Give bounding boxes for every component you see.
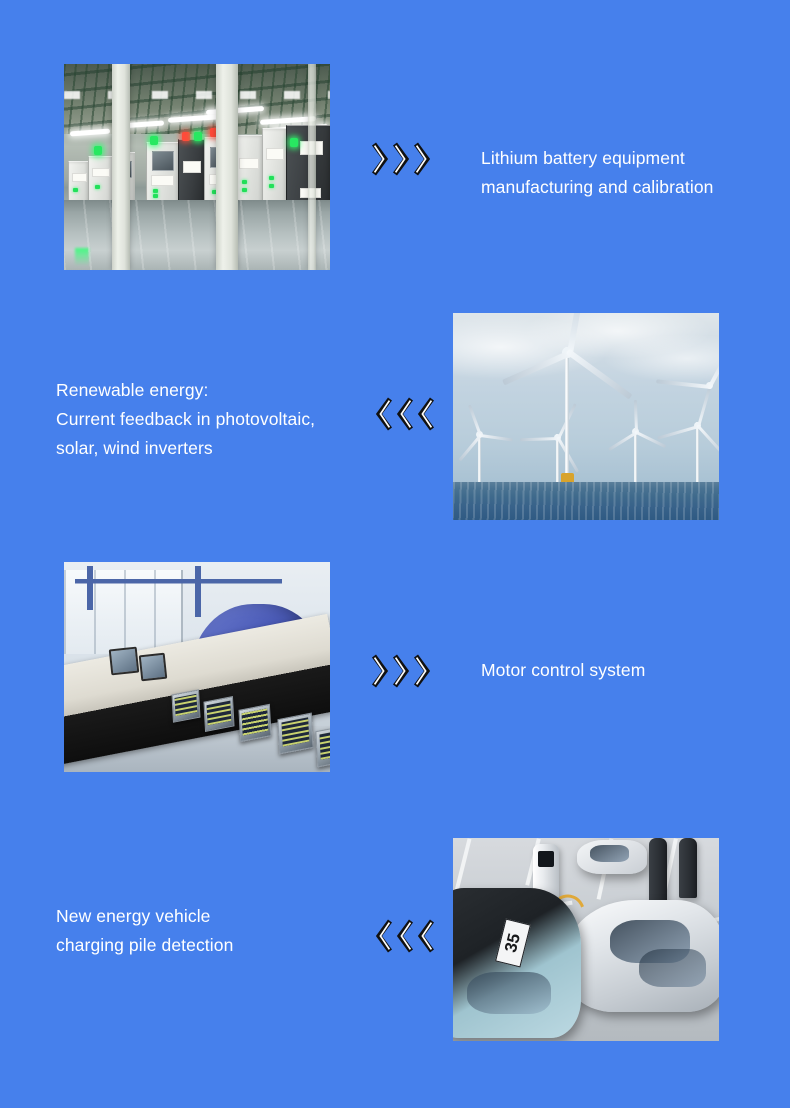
photo-motor-control <box>64 562 330 772</box>
chevron-right-icon <box>391 651 411 691</box>
wind-turbine <box>553 434 561 482</box>
chevron-left-icon <box>416 394 436 434</box>
chevron-left-icon <box>416 916 436 956</box>
cabinet-led <box>269 176 274 180</box>
photo-wind-farm-content <box>453 313 719 520</box>
chevron-right-icon <box>370 139 390 179</box>
chevron-left-icon <box>374 394 394 434</box>
chevron-right-icon <box>412 651 432 691</box>
cabinet-label <box>151 175 173 186</box>
cabinet-led <box>153 189 158 193</box>
charging-pile-screen <box>538 851 555 867</box>
caption-renewable-energy: Renewable energy: Current feedback in ph… <box>56 376 386 463</box>
chevron-right-icon <box>370 651 390 691</box>
photo-ev-charging-content: 35 <box>453 838 719 1041</box>
status-lamp <box>94 146 102 155</box>
charging-pile <box>649 838 667 902</box>
chevron-left-icon <box>395 916 415 956</box>
photo-wind-farm <box>453 313 719 520</box>
sedan-rear-glass <box>639 949 706 987</box>
arrow-renewable-energy <box>374 394 437 434</box>
monitor <box>139 653 168 682</box>
support-pillar <box>216 64 238 270</box>
instrument-console <box>172 689 201 723</box>
arrow-motor-control <box>370 651 433 691</box>
turbine-mast <box>696 422 699 484</box>
turbine-mast <box>634 428 637 484</box>
poster-canvas: Lithium battery equipment manufacturing … <box>0 0 790 1108</box>
status-lamp <box>290 138 298 147</box>
cabinet-label <box>266 148 283 161</box>
photo-lithium-battery <box>64 64 330 270</box>
turbine-mast <box>565 347 569 482</box>
monitor <box>109 647 140 676</box>
cabinet-led <box>95 185 100 189</box>
instrument-console <box>315 724 330 767</box>
cabinet-label <box>72 173 87 182</box>
arrow-lithium-battery <box>370 139 433 179</box>
van-number: 35 <box>501 931 525 954</box>
instrument-console <box>203 696 234 732</box>
status-lamp <box>150 136 158 145</box>
cabinet-led <box>153 194 158 198</box>
van-windshield <box>467 972 551 1014</box>
cabinet-led <box>269 184 274 188</box>
cabinet-led <box>242 188 247 192</box>
car-windshield <box>590 845 629 861</box>
instrument-console <box>238 704 271 742</box>
caption-motor-control: Motor control system <box>481 656 781 685</box>
wind-turbine <box>693 422 701 484</box>
chevron-right-icon <box>412 139 432 179</box>
wind-turbine <box>705 382 713 474</box>
chevron-right-icon <box>391 139 411 179</box>
cabinet-label <box>239 158 259 170</box>
clouds <box>453 313 719 427</box>
instrument-console <box>277 713 313 755</box>
caption-lithium-battery: Lithium battery equipment manufacturing … <box>481 144 781 202</box>
photo-lithium-battery-content <box>64 64 330 270</box>
charging-pile <box>679 838 697 898</box>
wind-turbine <box>631 428 639 484</box>
cabinet-label <box>92 168 109 177</box>
support-pillar <box>112 64 130 270</box>
arrow-ev-charging <box>374 916 437 956</box>
caption-ev-charging: New energy vehicle charging pile detecti… <box>56 902 376 960</box>
background-car <box>577 840 647 874</box>
status-lamp <box>182 132 190 141</box>
sea <box>453 482 719 520</box>
wind-turbine <box>475 431 483 483</box>
cabinet-label <box>183 161 202 172</box>
support-pillar <box>308 64 316 270</box>
silver-sedan <box>565 900 719 1012</box>
cabinet-led <box>242 180 247 184</box>
photo-ev-charging: 35 <box>453 838 719 1041</box>
factory-floor <box>64 200 330 270</box>
cabinet-screen <box>152 151 174 171</box>
bay-line <box>455 838 472 891</box>
chevron-left-icon <box>374 916 394 956</box>
chevron-left-icon <box>395 394 415 434</box>
cabinet-led <box>73 188 78 192</box>
status-lamp <box>194 132 202 141</box>
overhead-gantry <box>75 566 282 600</box>
photo-motor-control-content <box>64 562 330 772</box>
wind-turbine-main <box>561 347 573 482</box>
factory-ceiling-pipes <box>64 64 330 134</box>
